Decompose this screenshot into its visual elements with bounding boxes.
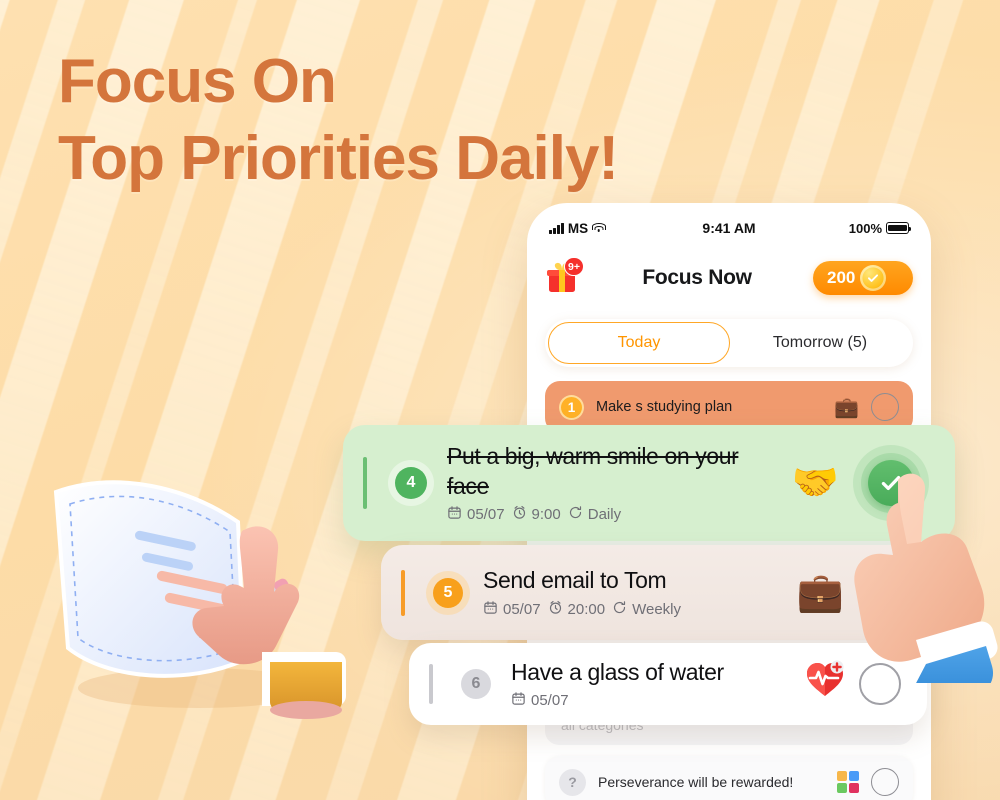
calendar-icon bbox=[483, 600, 498, 619]
priority-bar bbox=[429, 664, 433, 704]
coin-balance-button[interactable]: 200 bbox=[813, 261, 913, 295]
task-title: Make s studying plan bbox=[596, 399, 822, 415]
task-repeat: Daily bbox=[588, 506, 621, 523]
task-meta: 05/07 bbox=[511, 691, 791, 710]
task-date: 05/07 bbox=[531, 692, 569, 709]
task-index-badge: 5 bbox=[433, 578, 463, 608]
task-title: Have a glass of water bbox=[511, 658, 791, 688]
pointing-hand-illustration bbox=[838, 468, 998, 683]
day-tabs: Today Tomorrow (5) bbox=[545, 319, 913, 367]
repeat-icon bbox=[612, 600, 627, 619]
status-bar: MS 9:41 AM 100% bbox=[527, 203, 931, 247]
tab-today[interactable]: Today bbox=[548, 322, 730, 364]
signal-bars-icon bbox=[549, 223, 564, 234]
app-bar: 9+ Focus Now 200 bbox=[527, 247, 931, 309]
briefcase-emoji: 💼 bbox=[797, 571, 844, 615]
task-time: 20:00 bbox=[568, 601, 606, 618]
repeat-icon bbox=[568, 505, 583, 524]
wifi-icon bbox=[592, 223, 605, 234]
quote-text: Perseverance will be rewarded! bbox=[598, 774, 825, 790]
task-title: Put a big, warm smile on your face bbox=[447, 442, 778, 502]
battery-icon bbox=[886, 222, 909, 234]
task-repeat: Weekly bbox=[632, 601, 681, 618]
carrier-label: MS bbox=[568, 221, 588, 236]
tab-tomorrow[interactable]: Tomorrow (5) bbox=[730, 322, 910, 364]
task-index-badge: 4 bbox=[395, 467, 427, 499]
task-meta: 05/07 9:00 Daily bbox=[447, 505, 778, 524]
promo-banner: Focus On Top Priorities Daily! MS 9:41 A… bbox=[0, 0, 1000, 800]
gift-icon[interactable]: 9+ bbox=[545, 261, 581, 295]
calendar-icon bbox=[511, 691, 526, 710]
priority-bar bbox=[401, 570, 405, 616]
quote-row[interactable]: ? Perseverance will be rewarded! bbox=[545, 756, 913, 800]
quote-checkbox[interactable] bbox=[871, 768, 899, 796]
alarm-clock-icon bbox=[548, 600, 563, 619]
gift-badge: 9+ bbox=[564, 257, 584, 276]
color-squares-icon bbox=[837, 771, 860, 794]
task-checkbox[interactable] bbox=[871, 393, 899, 421]
task-time: 9:00 bbox=[532, 506, 561, 523]
task-meta: 05/07 20:00 Weekly bbox=[483, 600, 783, 619]
task-index-badge: 6 bbox=[461, 669, 491, 699]
status-time: 9:41 AM bbox=[702, 220, 755, 236]
coin-count: 200 bbox=[827, 268, 855, 288]
hand-writing-checklist-illustration bbox=[48, 470, 378, 740]
alarm-clock-icon bbox=[512, 505, 527, 524]
app-title: Focus Now bbox=[581, 266, 813, 290]
task-date: 05/07 bbox=[503, 601, 541, 618]
task-index-badge: 1 bbox=[559, 395, 584, 420]
coin-check-icon bbox=[860, 265, 886, 291]
handshake-emoji: 🤝 bbox=[792, 461, 839, 505]
briefcase-emoji: 💼 bbox=[834, 395, 859, 420]
task-title: Send email to Tom bbox=[483, 566, 783, 596]
question-badge: ? bbox=[559, 769, 586, 796]
calendar-icon bbox=[447, 505, 462, 524]
battery-percent: 100% bbox=[849, 221, 882, 236]
page-title: Focus On Top Priorities Daily! bbox=[58, 44, 618, 198]
task-date: 05/07 bbox=[467, 506, 505, 523]
